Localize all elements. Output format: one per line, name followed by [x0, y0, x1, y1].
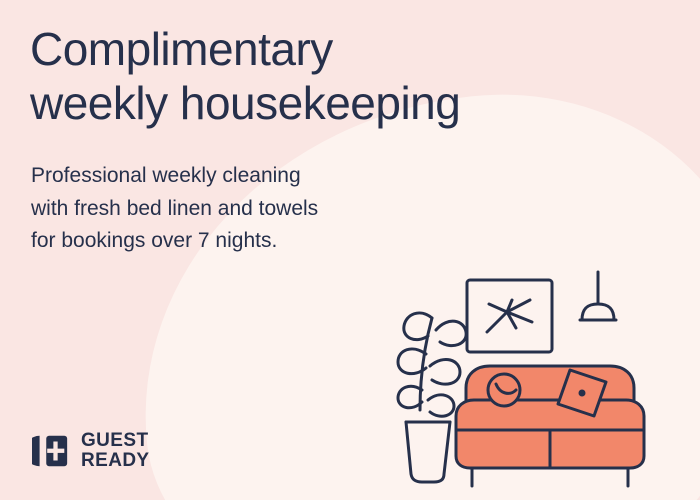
sofa-icon — [456, 366, 644, 486]
living-room-illustration — [392, 270, 692, 500]
subheadline: Professional weekly cleaning with fresh … — [31, 160, 461, 258]
brand-logo: GUEST READY — [32, 431, 150, 470]
logo-wordmark: GUEST READY — [81, 431, 150, 470]
page-title: Complimentary weekly housekeeping — [30, 22, 650, 131]
subhead-line-3: for bookings over 7 nights. — [31, 225, 461, 258]
headline-line-2: weekly housekeeping — [30, 76, 650, 130]
pendant-lamp-icon — [580, 272, 616, 320]
logo-word-1: GUEST — [81, 431, 150, 450]
promo-card: Complimentary weekly housekeeping Profes… — [0, 0, 700, 500]
subhead-line-1: Professional weekly cleaning — [31, 160, 461, 193]
headline-line-1: Complimentary — [30, 22, 650, 76]
framed-picture-icon — [467, 280, 552, 352]
guestready-logo-icon — [32, 432, 70, 470]
logo-word-2: READY — [81, 451, 150, 470]
subhead-line-2: with fresh bed linen and towels — [31, 193, 461, 226]
